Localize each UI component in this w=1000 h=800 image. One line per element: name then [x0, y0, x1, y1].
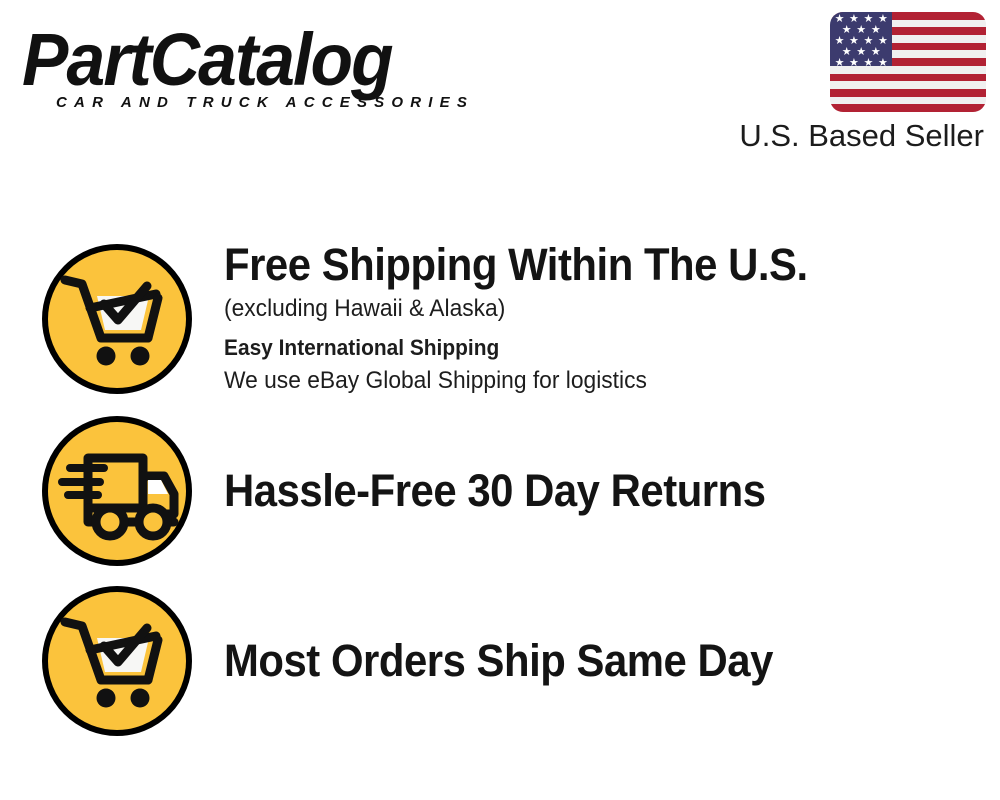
feature-text-free-shipping: Free Shipping Within The U.S. (excluding…: [224, 240, 1000, 398]
flag-star: ★: [835, 58, 845, 69]
feature-subnote: (excluding Hawaii & Alaska): [224, 292, 961, 326]
flag-star: ★: [878, 58, 888, 69]
delivery-truck-icon: [42, 416, 192, 566]
feature-sub-detail: We use eBay Global Shipping for logistic…: [224, 364, 961, 398]
flag-star: ★: [863, 58, 873, 69]
us-based-seller-label: U.S. Based Seller: [739, 118, 984, 154]
page-header: PartCatalog CAR AND TRUCK ACCESSORIES ★ …: [0, 0, 1000, 175]
feature-headline: Most Orders Ship Same Day: [224, 636, 946, 686]
brand-tagline: CAR AND TRUCK ACCESSORIES: [56, 94, 474, 111]
us-based-seller-badge: ★ ★ ★ ★ ★ ★ ★ ★ ★ ★ ★ ★ ★: [830, 12, 986, 112]
feature-headline: Free Shipping Within The U.S.: [224, 240, 946, 290]
brand-wordmark: PartCatalog: [22, 22, 464, 98]
feature-headline: Hassle-Free 30 Day Returns: [224, 466, 946, 516]
feature-text-returns: Hassle-Free 30 Day Returns: [224, 466, 1000, 516]
feature-sub-bold: Easy International Shipping: [224, 332, 961, 364]
flag-star: ★: [849, 58, 859, 69]
brand-logo[interactable]: PartCatalog CAR AND TRUCK ACCESSORIES: [22, 22, 492, 122]
feature-row-returns: Hassle-Free 30 Day Returns: [0, 410, 1000, 572]
feature-text-same-day: Most Orders Ship Same Day: [224, 636, 1000, 686]
feature-row-same-day: Most Orders Ship Same Day: [0, 580, 1000, 742]
feature-row-free-shipping: Free Shipping Within The U.S. (excluding…: [0, 238, 1000, 400]
shopping-cart-check-icon: [42, 586, 192, 736]
us-flag-icon: ★ ★ ★ ★ ★ ★ ★ ★ ★ ★ ★ ★ ★: [830, 12, 986, 112]
flag-canton: ★ ★ ★ ★ ★ ★ ★ ★ ★ ★ ★ ★ ★: [830, 12, 892, 66]
shopping-cart-check-icon: [42, 244, 192, 394]
